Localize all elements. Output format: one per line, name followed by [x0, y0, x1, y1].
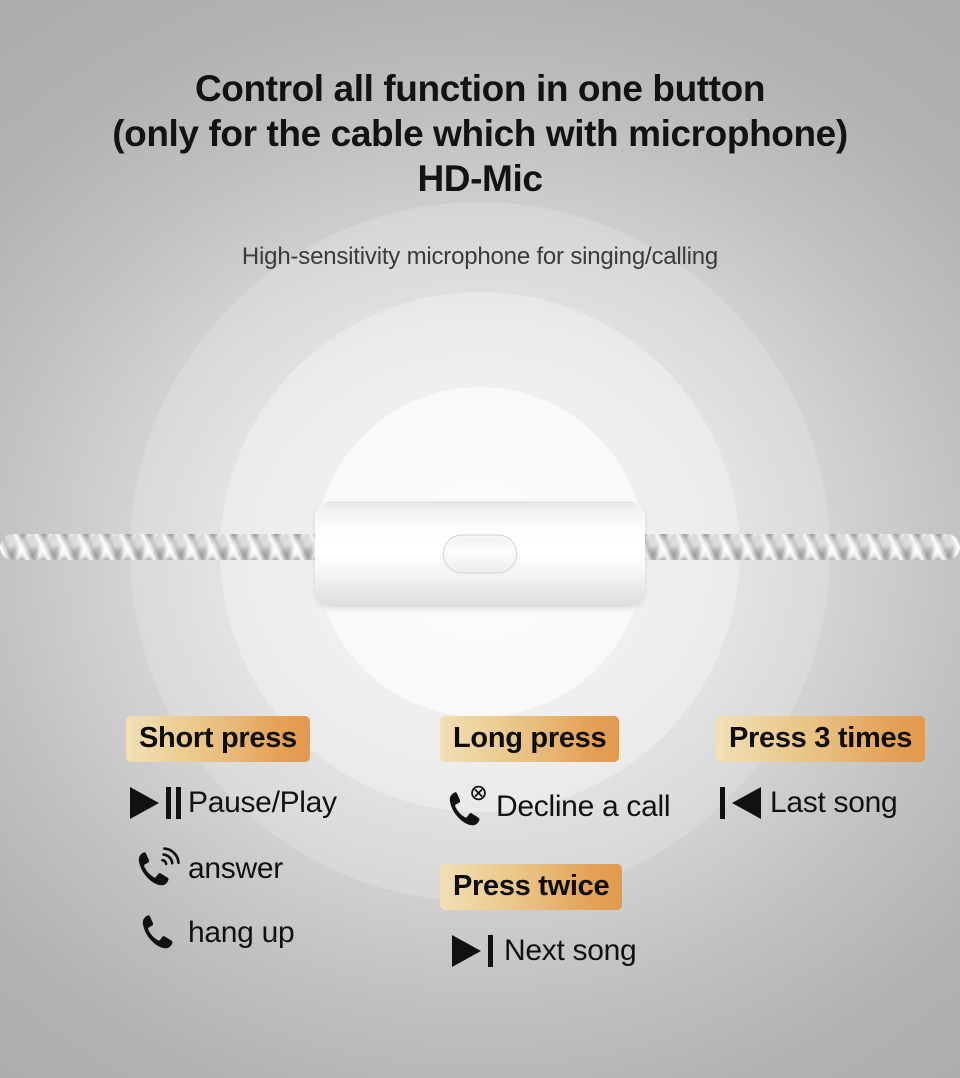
instruction-row: Next song: [440, 932, 670, 970]
instruction-row: Last song: [716, 784, 925, 822]
previous-track-icon: [716, 784, 770, 822]
instruction-row: answer: [126, 846, 337, 892]
inline-remote-module: [315, 500, 645, 607]
column-long-press: Long press Decline a call Press twice: [440, 716, 670, 970]
instruction-row: hang up: [126, 910, 337, 956]
phone-decline-icon: [440, 784, 496, 830]
column-short-press: Short press Pause/Play: [126, 716, 337, 956]
instruction-label: answer: [188, 852, 283, 886]
play-pause-icon: [126, 784, 188, 822]
page-subtitle: High-sensitivity microphone for singing/…: [0, 243, 960, 271]
instruction-label: Last song: [770, 786, 897, 820]
instruction-label: Next song: [504, 934, 636, 968]
cable-and-remote: [0, 500, 960, 610]
phone-hangup-icon: [126, 910, 188, 956]
braided-cable-right: [620, 534, 960, 560]
badge-press-twice: Press twice: [440, 864, 622, 910]
remote-multifunction-button[interactable]: [443, 534, 517, 573]
title-line-2: (only for the cable which with microphon…: [0, 111, 960, 156]
product-infographic: Control all function in one button (only…: [0, 0, 960, 1078]
instruction-row: Decline a call: [440, 784, 670, 830]
instruction-label: Decline a call: [496, 790, 670, 824]
page-title: Control all function in one button (only…: [0, 66, 960, 201]
badge-press-3-times: Press 3 times: [716, 716, 925, 762]
control-instructions: Short press Pause/Play: [0, 716, 960, 1056]
column-press-3-times: Press 3 times Last song: [716, 716, 925, 822]
badge-long-press: Long press: [440, 716, 619, 762]
badge-short-press: Short press: [126, 716, 310, 762]
phone-answer-icon: [126, 846, 188, 892]
title-line-1: Control all function in one button: [0, 66, 960, 111]
braided-cable-left: [0, 534, 340, 560]
instruction-row: Pause/Play: [126, 784, 337, 822]
instruction-label: Pause/Play: [188, 786, 337, 820]
instruction-label: hang up: [188, 916, 294, 950]
title-line-3: HD-Mic: [0, 156, 960, 201]
next-track-icon: [448, 932, 504, 970]
